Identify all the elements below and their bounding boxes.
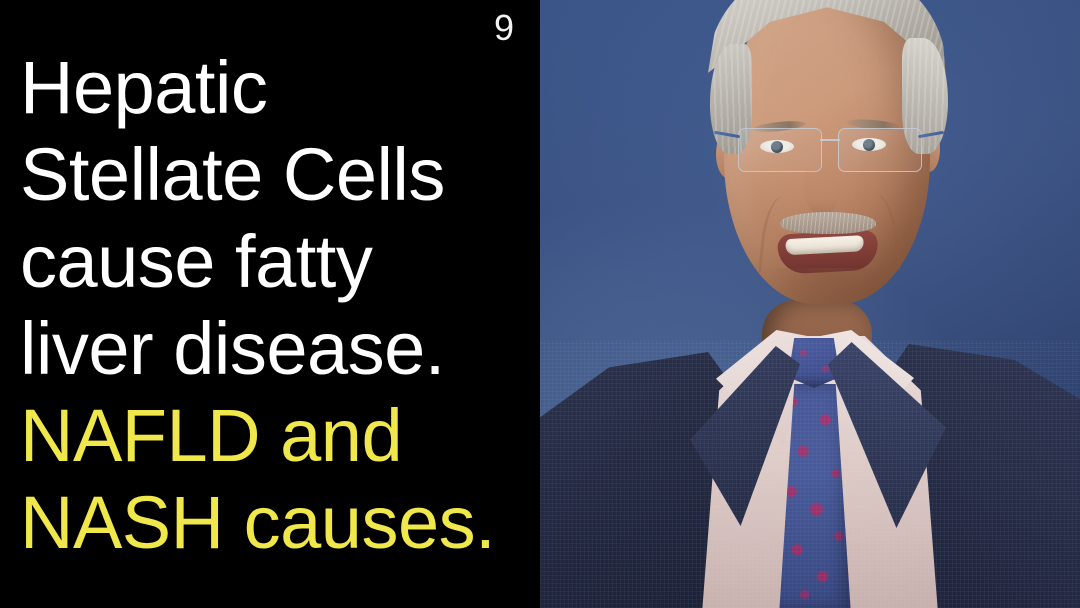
mustache [780, 212, 876, 234]
headline-line-5: NAFLD and [20, 392, 530, 479]
portrait-photo [540, 0, 1080, 608]
teeth [785, 235, 864, 255]
slide-number: 9 [487, 8, 521, 48]
chin-shadow [766, 268, 888, 316]
headline-block: Hepatic Stellate Cells cause fatty liver… [20, 44, 530, 566]
headline-line-4: liver disease. [20, 305, 530, 392]
headline-line-2: Stellate Cells [20, 131, 530, 218]
eyeglass-lens-right [838, 128, 922, 172]
text-panel: 9 Hepatic Stellate Cells cause fatty liv… [0, 0, 540, 608]
headline-line-1: Hepatic [20, 44, 530, 131]
headline-line-6: NASH causes. [20, 479, 530, 566]
slide-canvas: 9 Hepatic Stellate Cells cause fatty liv… [0, 0, 1080, 608]
nose-shape [804, 158, 840, 216]
headline-line-3: cause fatty [20, 218, 530, 305]
eyeglass-bridge [820, 139, 840, 141]
